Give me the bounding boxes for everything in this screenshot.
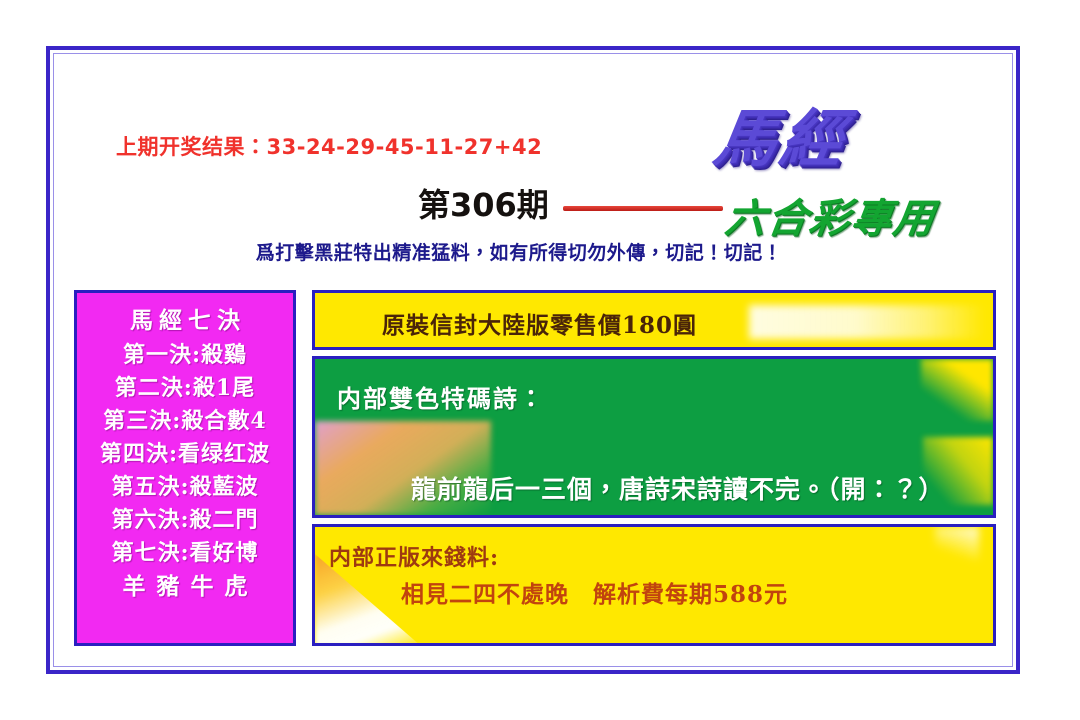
decision-row-3: 第三決:殺合數4 bbox=[77, 405, 293, 438]
yellow-smudge-artifact-top bbox=[921, 359, 993, 421]
zodiac-row: 羊豬牛虎 bbox=[77, 570, 293, 604]
decision-row-4: 第四決:看绿红波 bbox=[77, 438, 293, 471]
decision-row-7: 第七決:看好博 bbox=[77, 537, 293, 570]
money-text: 相見二四不處晚 解析費每期588元 bbox=[401, 575, 788, 609]
white-smudge-artifact-money bbox=[935, 527, 979, 561]
smudge-artifact-price bbox=[749, 305, 986, 339]
poem-text: 龍前龍后一三個，唐詩宋詩讀不完。（開：？） bbox=[411, 470, 945, 506]
brand-logo-title: 馬經 bbox=[709, 88, 855, 178]
poem-label: 内部雙色特碼詩： bbox=[337, 379, 545, 414]
red-divider-line bbox=[563, 206, 723, 211]
poster-body: 馬經七決 第一決:殺鷄 第二決:殺1尾 第三決:殺合數4 第四決:看绿红波 第五… bbox=[74, 290, 996, 648]
previous-draw-result: 上期开奖结果：33-24-29-45-11-27+42 bbox=[116, 131, 542, 161]
seven-decisions-panel: 馬經七決 第一決:殺鷄 第二決:殺1尾 第三決:殺合數4 第四決:看绿红波 第五… bbox=[74, 290, 296, 646]
money-material-panel: 内部正版來錢料: 相見二四不處晚 解析費每期588元 bbox=[312, 524, 996, 646]
brand-logo-subtitle: 六合彩專用 bbox=[722, 186, 940, 244]
right-column: 原裝信封大陸版零售價180圓 内部雙色特碼詩： 龍前龍后一三個，唐詩宋詩讀不完。… bbox=[312, 290, 996, 646]
seven-decisions-title: 馬經七決 bbox=[77, 301, 293, 335]
special-code-poem-panel: 内部雙色特碼詩： 龍前龍后一三個，唐詩宋詩讀不完。（開：？） bbox=[312, 356, 996, 518]
price-banner: 原裝信封大陸版零售價180圓 bbox=[312, 290, 996, 350]
price-banner-text: 原裝信封大陸版零售價180圓 bbox=[382, 306, 697, 340]
issue-number: 第306期 bbox=[418, 180, 549, 226]
money-label: 内部正版來錢料: bbox=[329, 540, 499, 572]
decision-row-5: 第五決:殺藍波 bbox=[77, 471, 293, 504]
slogan-text: 爲打擊黑莊特出精准猛料，如有所得切勿外傳，切記！切記！ bbox=[50, 238, 1016, 265]
decision-row-1: 第一決:殺鷄 bbox=[77, 339, 293, 372]
poster-frame: 上期开奖结果：33-24-29-45-11-27+42 馬經 第306期 六合彩… bbox=[46, 46, 1020, 674]
decision-row-6: 第六決:殺二門 bbox=[77, 504, 293, 537]
poster-header: 上期开奖结果：33-24-29-45-11-27+42 馬經 第306期 六合彩… bbox=[50, 50, 1016, 256]
decision-row-2: 第二決:殺1尾 bbox=[77, 372, 293, 405]
